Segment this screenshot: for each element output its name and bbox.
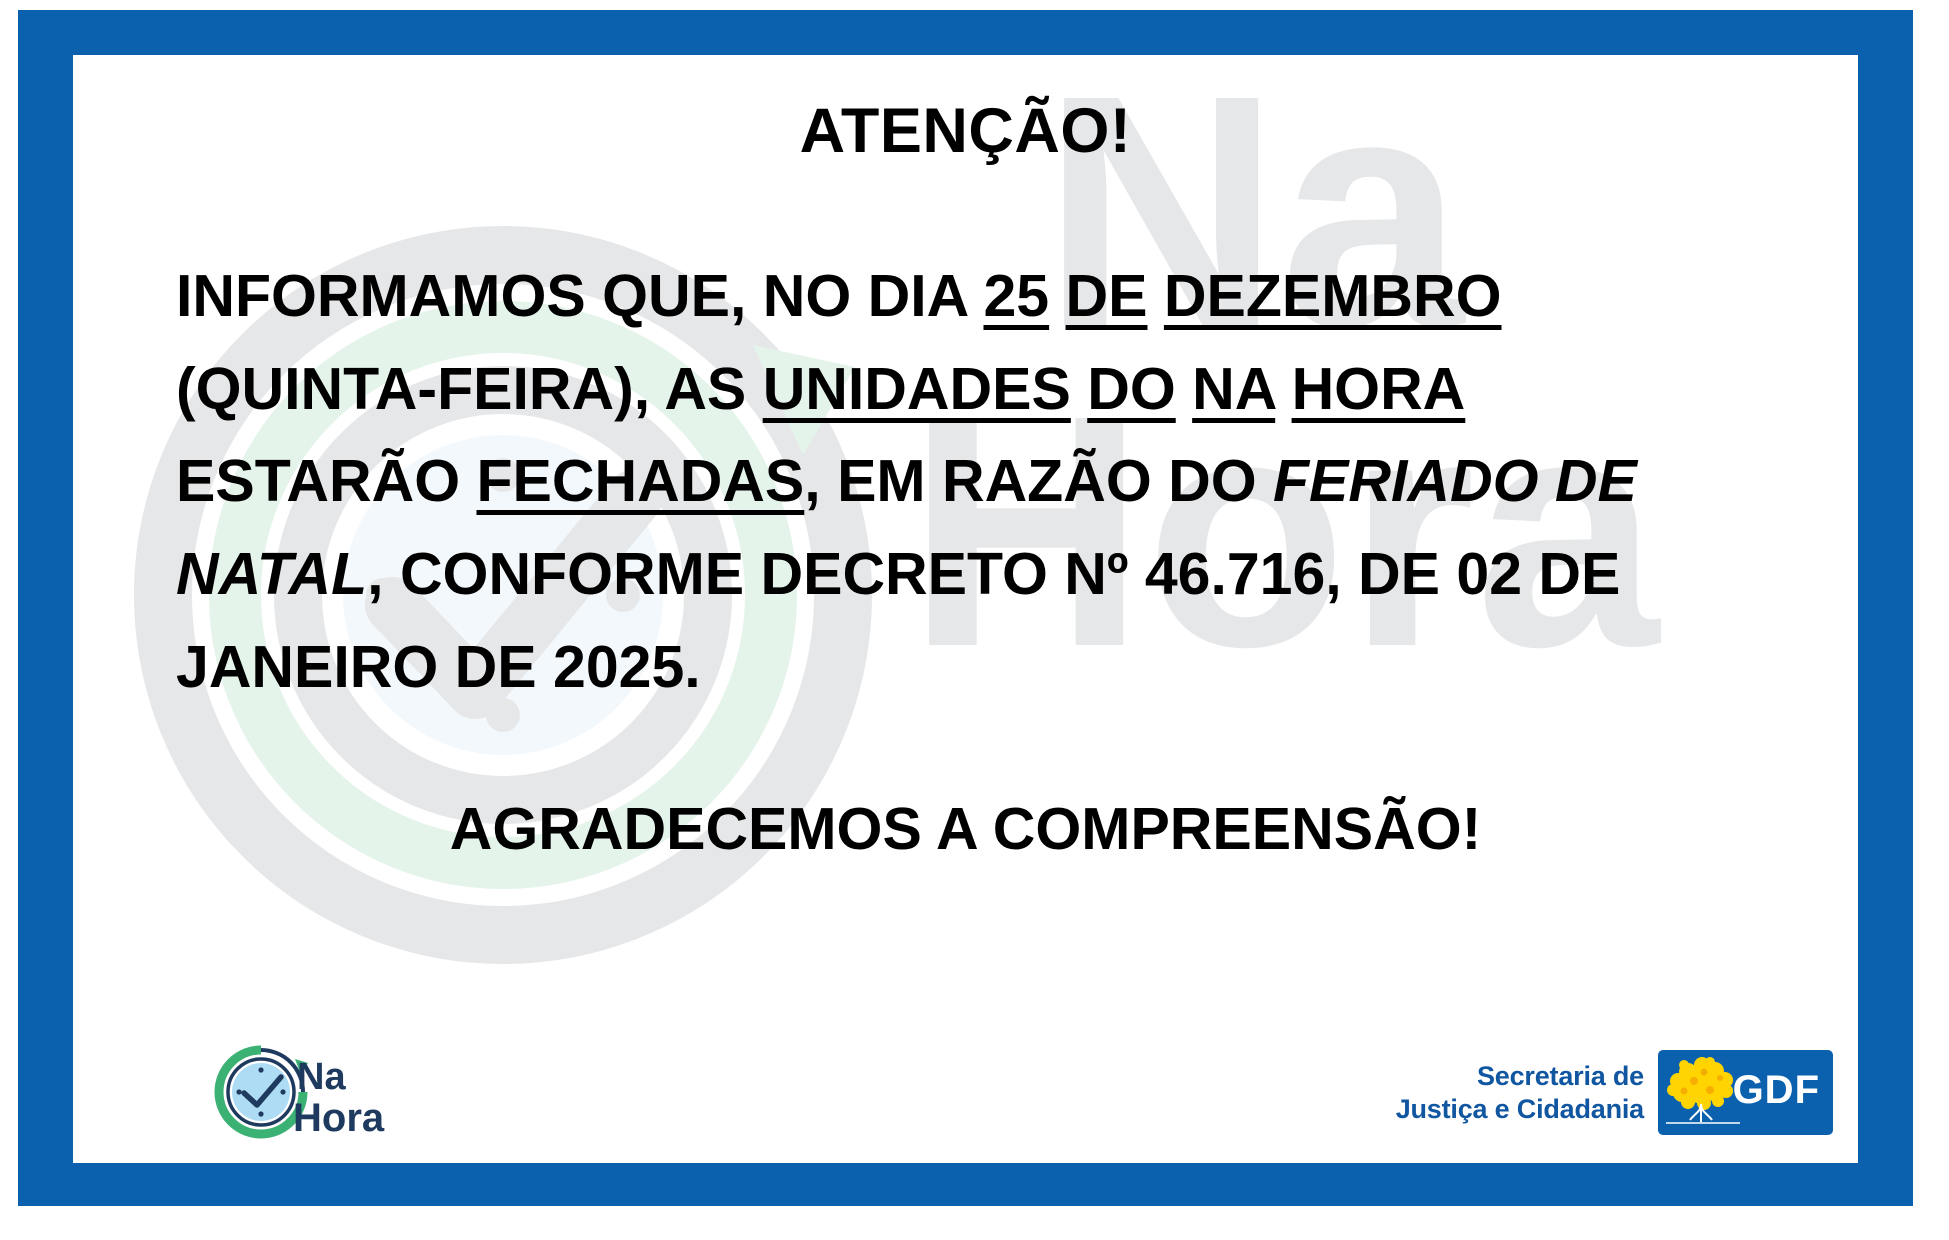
- body-line-1-word-5: 25: [983, 263, 1049, 329]
- body-line-5-part-1: JANEIRO DE 2025.: [176, 634, 701, 700]
- nahora-logo-line2: Hora: [293, 1096, 385, 1140]
- poster-inner: Na Hora ATENÇÃO! INFORMAMOS QUE, NO DIA …: [73, 55, 1858, 1163]
- body-line-2-word-1: (QUINTA-FEIRA),: [176, 356, 650, 422]
- nahora-logo-line1: Na: [297, 1056, 346, 1098]
- footer-logos: Secretaria de Justiça e Cidadania: [1396, 1040, 1833, 1145]
- body-line-1: INFORMAMOS QUE, NO DIA 25 DE DEZEMBRO: [176, 250, 1758, 343]
- poster-content: ATENÇÃO! INFORMAMOS QUE, NO DIA 25 DE DE…: [73, 55, 1858, 1163]
- body-line-1-word-1: INFORMAMOS: [176, 263, 586, 329]
- secretaria-wordmark: Secretaria de Justiça e Cidadania: [1396, 1060, 1644, 1126]
- body-line-3-part-2: , EM RAZÃO DO: [804, 448, 1273, 514]
- body-line-4-part-1: , CONFORME DECRETO Nº 46.716, DE 02 DE: [367, 541, 1620, 607]
- body-line-5: JANEIRO DE 2025.: [176, 621, 1758, 714]
- secretaria-line-2: Justiça e Cidadania: [1396, 1093, 1644, 1126]
- body-line-2: (QUINTA-FEIRA), AS UNIDADES DO NA HORA: [176, 343, 1758, 436]
- closing-message: AGRADECEMOS A COMPREENSÃO!: [73, 795, 1858, 863]
- announcement-body: INFORMAMOS QUE, NO DIA 25 DE DEZEMBRO (Q…: [176, 250, 1758, 713]
- body-line-3-italic: FERIADO DE: [1273, 448, 1637, 514]
- body-line-3: ESTARÃO FECHADAS, EM RAZÃO DO FERIADO DE: [176, 435, 1758, 528]
- gdf-label: GDF: [1733, 1067, 1820, 1112]
- poster-frame: Na Hora ATENÇÃO! INFORMAMOS QUE, NO DIA …: [18, 10, 1913, 1206]
- body-line-2-word-2: AS: [664, 356, 746, 422]
- body-line-2-word-4: DO: [1087, 356, 1176, 422]
- body-line-2-word-6: HORA: [1292, 356, 1466, 422]
- body-line-2-word-3: UNIDADES: [763, 356, 1071, 422]
- body-line-4-italic: NATAL: [176, 541, 367, 607]
- body-line-3-underlined: FECHADAS: [476, 448, 804, 514]
- body-line-3-part-1: ESTARÃO: [176, 448, 476, 514]
- nahora-logo: Na Hora: [213, 1045, 423, 1140]
- page-title: ATENÇÃO!: [73, 95, 1858, 167]
- body-line-1-word-7: DEZEMBRO: [1164, 263, 1502, 329]
- body-line-1-word-6: DE: [1066, 263, 1148, 329]
- body-line-1-word-3: NO: [763, 263, 852, 329]
- body-line-2-word-5: NA: [1192, 356, 1275, 422]
- body-line-4: NATAL, CONFORME DECRETO Nº 46.716, DE 02…: [176, 528, 1758, 621]
- secretaria-line-1: Secretaria de: [1396, 1060, 1644, 1093]
- gdf-logo: GDF: [1658, 1050, 1833, 1135]
- body-line-1-word-2: QUE,: [602, 263, 746, 329]
- body-line-1-word-4: DIA: [868, 263, 967, 329]
